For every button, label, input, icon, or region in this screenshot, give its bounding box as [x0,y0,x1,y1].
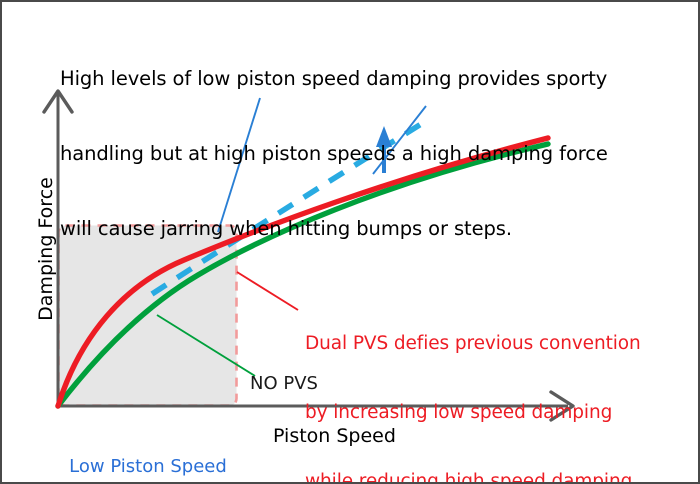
red-note-line-3: while reducing high speed damping [305,470,655,484]
headline-line-2: handling but at high piston speeds a hig… [60,141,650,166]
headline-line-1: High levels of low piston speed damping … [60,66,650,91]
range-label-line-1: Low Piston Speed [58,456,238,477]
low-speed-range-label: Low Piston Speed Range [58,414,238,484]
headline-annotation: High levels of low piston speed damping … [60,16,650,291]
red-note-line-1: Dual PVS defies previous convention [305,332,655,355]
headline-line-3: will cause jarring when hitting bumps or… [60,216,650,241]
red-note-line-2: by increasing low speed damping [305,401,655,424]
no-pvs-label: NO PVS [250,373,318,394]
x-axis-label: Piston Speed [273,425,396,447]
chart-figure: High levels of low piston speed damping … [0,0,700,484]
dual-pvs-annotation: Dual PVS defies previous convention by i… [305,286,655,484]
y-axis-label: Damping Force [35,169,57,329]
